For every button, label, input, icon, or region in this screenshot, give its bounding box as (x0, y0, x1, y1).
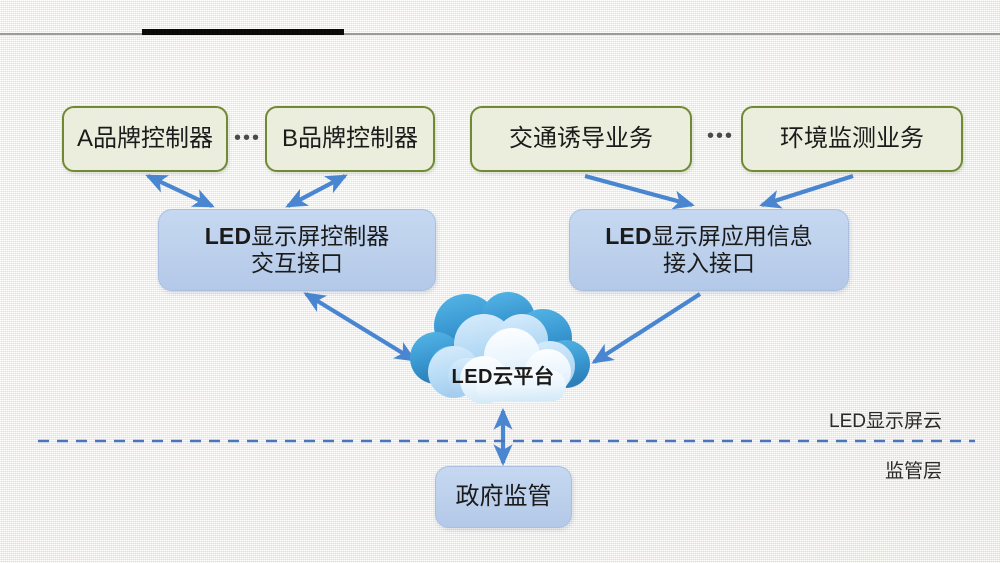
node-label-group: LED显示屏控制器交互接口 (205, 223, 390, 277)
slide-canvas: A品牌控制器 ••• B品牌控制器 交通诱导业务 ••• 环境监测业务 LED显… (0, 0, 1000, 563)
cloud-icon (398, 286, 608, 416)
cloud-platform-label: LED云平台 (398, 360, 608, 389)
arrow-ctrl-to-brandb (288, 176, 345, 206)
node-label-line2: 接入接口 (663, 250, 755, 276)
ellipsis-left: ••• (234, 128, 261, 148)
arrow-traffic-to-appif (585, 176, 692, 205)
node-brand-b-controller[interactable]: B品牌控制器 (265, 106, 435, 172)
node-traffic-guidance-service[interactable]: 交通诱导业务 (470, 106, 692, 172)
node-label-line2: 交互接口 (251, 250, 343, 276)
node-environment-monitoring-service[interactable]: 环境监测业务 (741, 106, 963, 172)
node-label-emphasis: LED (205, 223, 252, 249)
node-label: 政府监管 (456, 483, 552, 511)
node-label-rest: 显示屏应用信息 (652, 223, 813, 249)
arrow-env-to-appif (762, 176, 853, 205)
node-label-emphasis: LED (605, 223, 652, 249)
arrow-ctrl-to-branda (148, 176, 212, 206)
node-government-regulation[interactable]: 政府监管 (435, 466, 572, 528)
node-label: 环境监测业务 (780, 125, 924, 153)
node-label: B品牌控制器 (282, 125, 418, 153)
node-label: 交通诱导业务 (509, 125, 653, 153)
layer-label-led-cloud: LED显示屏云 (829, 406, 942, 433)
node-label: A品牌控制器 (77, 125, 213, 153)
node-led-app-info-interface[interactable]: LED显示屏应用信息接入接口 (569, 209, 849, 291)
node-label-group: LED显示屏应用信息接入接口 (605, 223, 813, 277)
top-thick-rule (142, 29, 344, 35)
node-led-cloud-platform[interactable]: LED云平台 (398, 286, 608, 416)
node-brand-a-controller[interactable]: A品牌控制器 (62, 106, 228, 172)
ellipsis-right: ••• (707, 126, 734, 146)
arrow-appif-to-cloud (594, 294, 700, 362)
layer-label-regulation: 监管层 (885, 456, 942, 483)
node-label-rest: 显示屏控制器 (251, 223, 389, 249)
node-led-controller-interface[interactable]: LED显示屏控制器交互接口 (158, 209, 436, 291)
